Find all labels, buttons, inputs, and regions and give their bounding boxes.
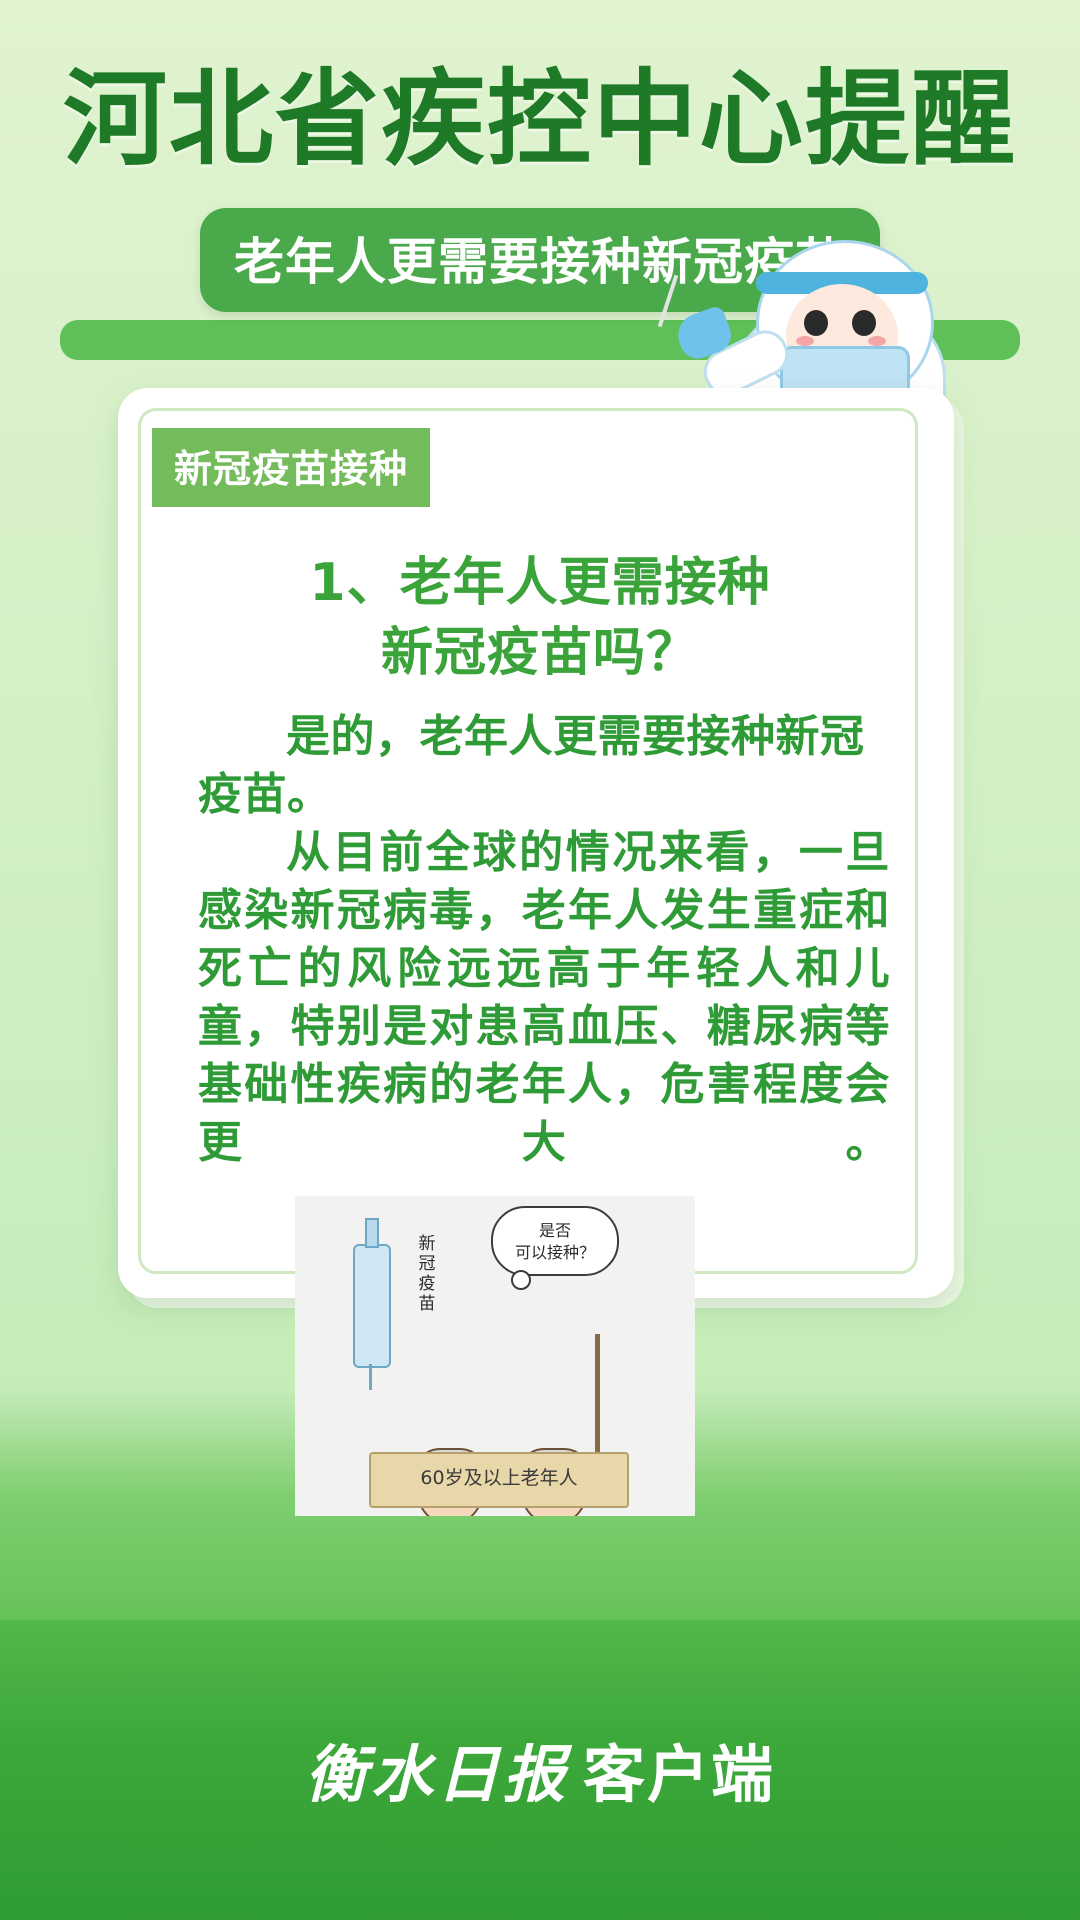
body-paragraph-2: 从目前全球的情况来看，一旦感染新冠病毒，老年人发生重症和死亡的风险远远高于年轻人… (198, 824, 890, 1172)
brand-sub: 客户端 (583, 1738, 775, 1811)
speech-bubble: 是否 可以接种？ (491, 1206, 619, 1276)
question-title: 1、老年人更需接种 新冠疫苗吗？ (160, 548, 920, 688)
page-title: 河北省疾控中心提醒 (0, 34, 1080, 185)
vaccine-label: 新冠疫苗 (415, 1234, 439, 1314)
platform-label: 60岁及以上老年人 (369, 1452, 629, 1508)
speech-line-1: 是否 (493, 1220, 617, 1242)
cartoon-illustration: 新冠疫苗 是否 可以接种？ 60岁及以上老年人 (295, 1196, 695, 1516)
speech-line-2: 可以接种？ (493, 1242, 617, 1264)
walking-cane-icon (595, 1334, 600, 1454)
question-line-1: 1、老年人更需接种 (160, 548, 920, 618)
doctor-cheek-left (796, 336, 814, 346)
brand-main: 衡水日报 (305, 1738, 569, 1811)
syringe-icon (353, 1244, 391, 1368)
doctor-eye-left (804, 310, 828, 336)
section-tag: 新冠疫苗接种 (152, 428, 430, 507)
body-text: 是的，老年人更需要接种新冠疫苗。 从目前全球的情况来看，一旦感染新冠病毒，老年人… (198, 708, 890, 1172)
poster-root: 河北省疾控中心提醒 老年人更需要接种新冠疫苗 新冠疫苗接种 1、老年人更需接种 … (0, 0, 1080, 1920)
body-paragraph-1: 是的，老年人更需要接种新冠疫苗。 (198, 708, 890, 824)
footer-brand: 衡水日报客户端 (0, 1724, 1080, 1814)
doctor-cheek-right (868, 336, 886, 346)
question-line-2: 新冠疫苗吗？ (160, 618, 920, 688)
doctor-eye-right (852, 310, 876, 336)
